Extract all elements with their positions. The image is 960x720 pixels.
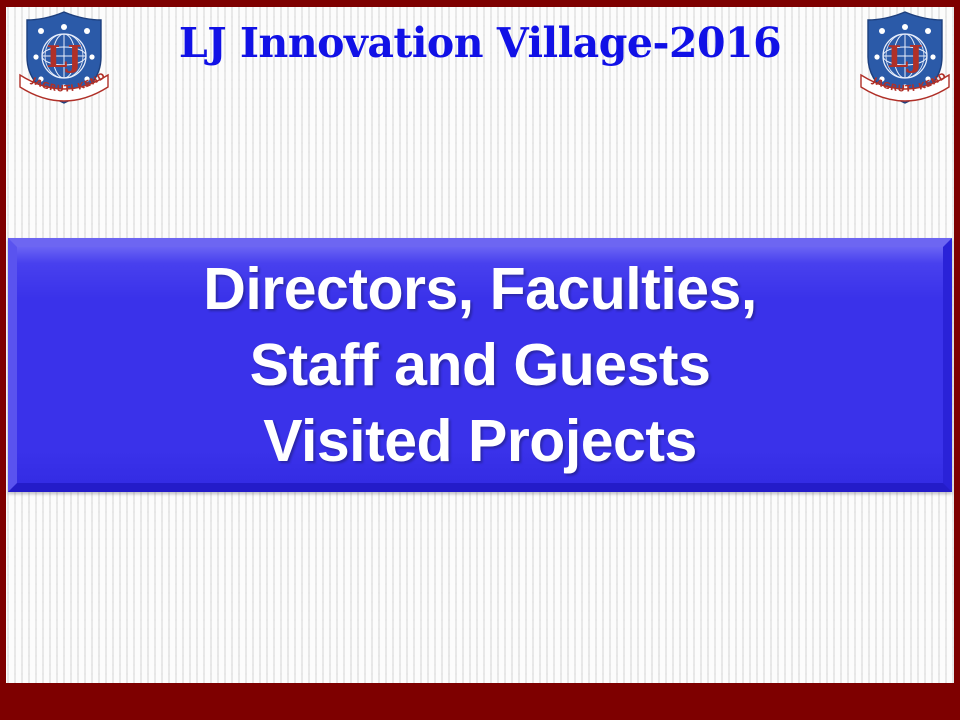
content-panel: Directors, Faculties, Staff and Guests V…: [8, 238, 952, 492]
panel-line-2: Staff and Guests: [250, 327, 711, 403]
content-panel-inner: Directors, Faculties, Staff and Guests V…: [17, 247, 943, 483]
lj-logo-right: LJ LOK JAGRUTI KENDRA: [855, 7, 955, 107]
slide-title: LJ Innovation Village-2016: [110, 15, 850, 71]
svg-text:LJ: LJ: [887, 40, 922, 75]
panel-line-3: Visited Projects: [263, 403, 697, 479]
lj-logo-left: LJ LOK JAGRUTI KENDRA: [14, 7, 114, 107]
svg-text:LJ: LJ: [46, 40, 81, 75]
slide-border-right: [954, 0, 960, 720]
slide-border-bottom: [0, 683, 960, 720]
slide-border-top: [0, 0, 960, 7]
presentation-slide: LJ LOK JAGRUTI KENDRA LJ Innovation Vill…: [0, 0, 960, 720]
slide-header: LJ LOK JAGRUTI KENDRA LJ Innovation Vill…: [0, 5, 960, 105]
slide-border-left: [0, 0, 6, 720]
panel-line-1: Directors, Faculties,: [203, 251, 757, 327]
